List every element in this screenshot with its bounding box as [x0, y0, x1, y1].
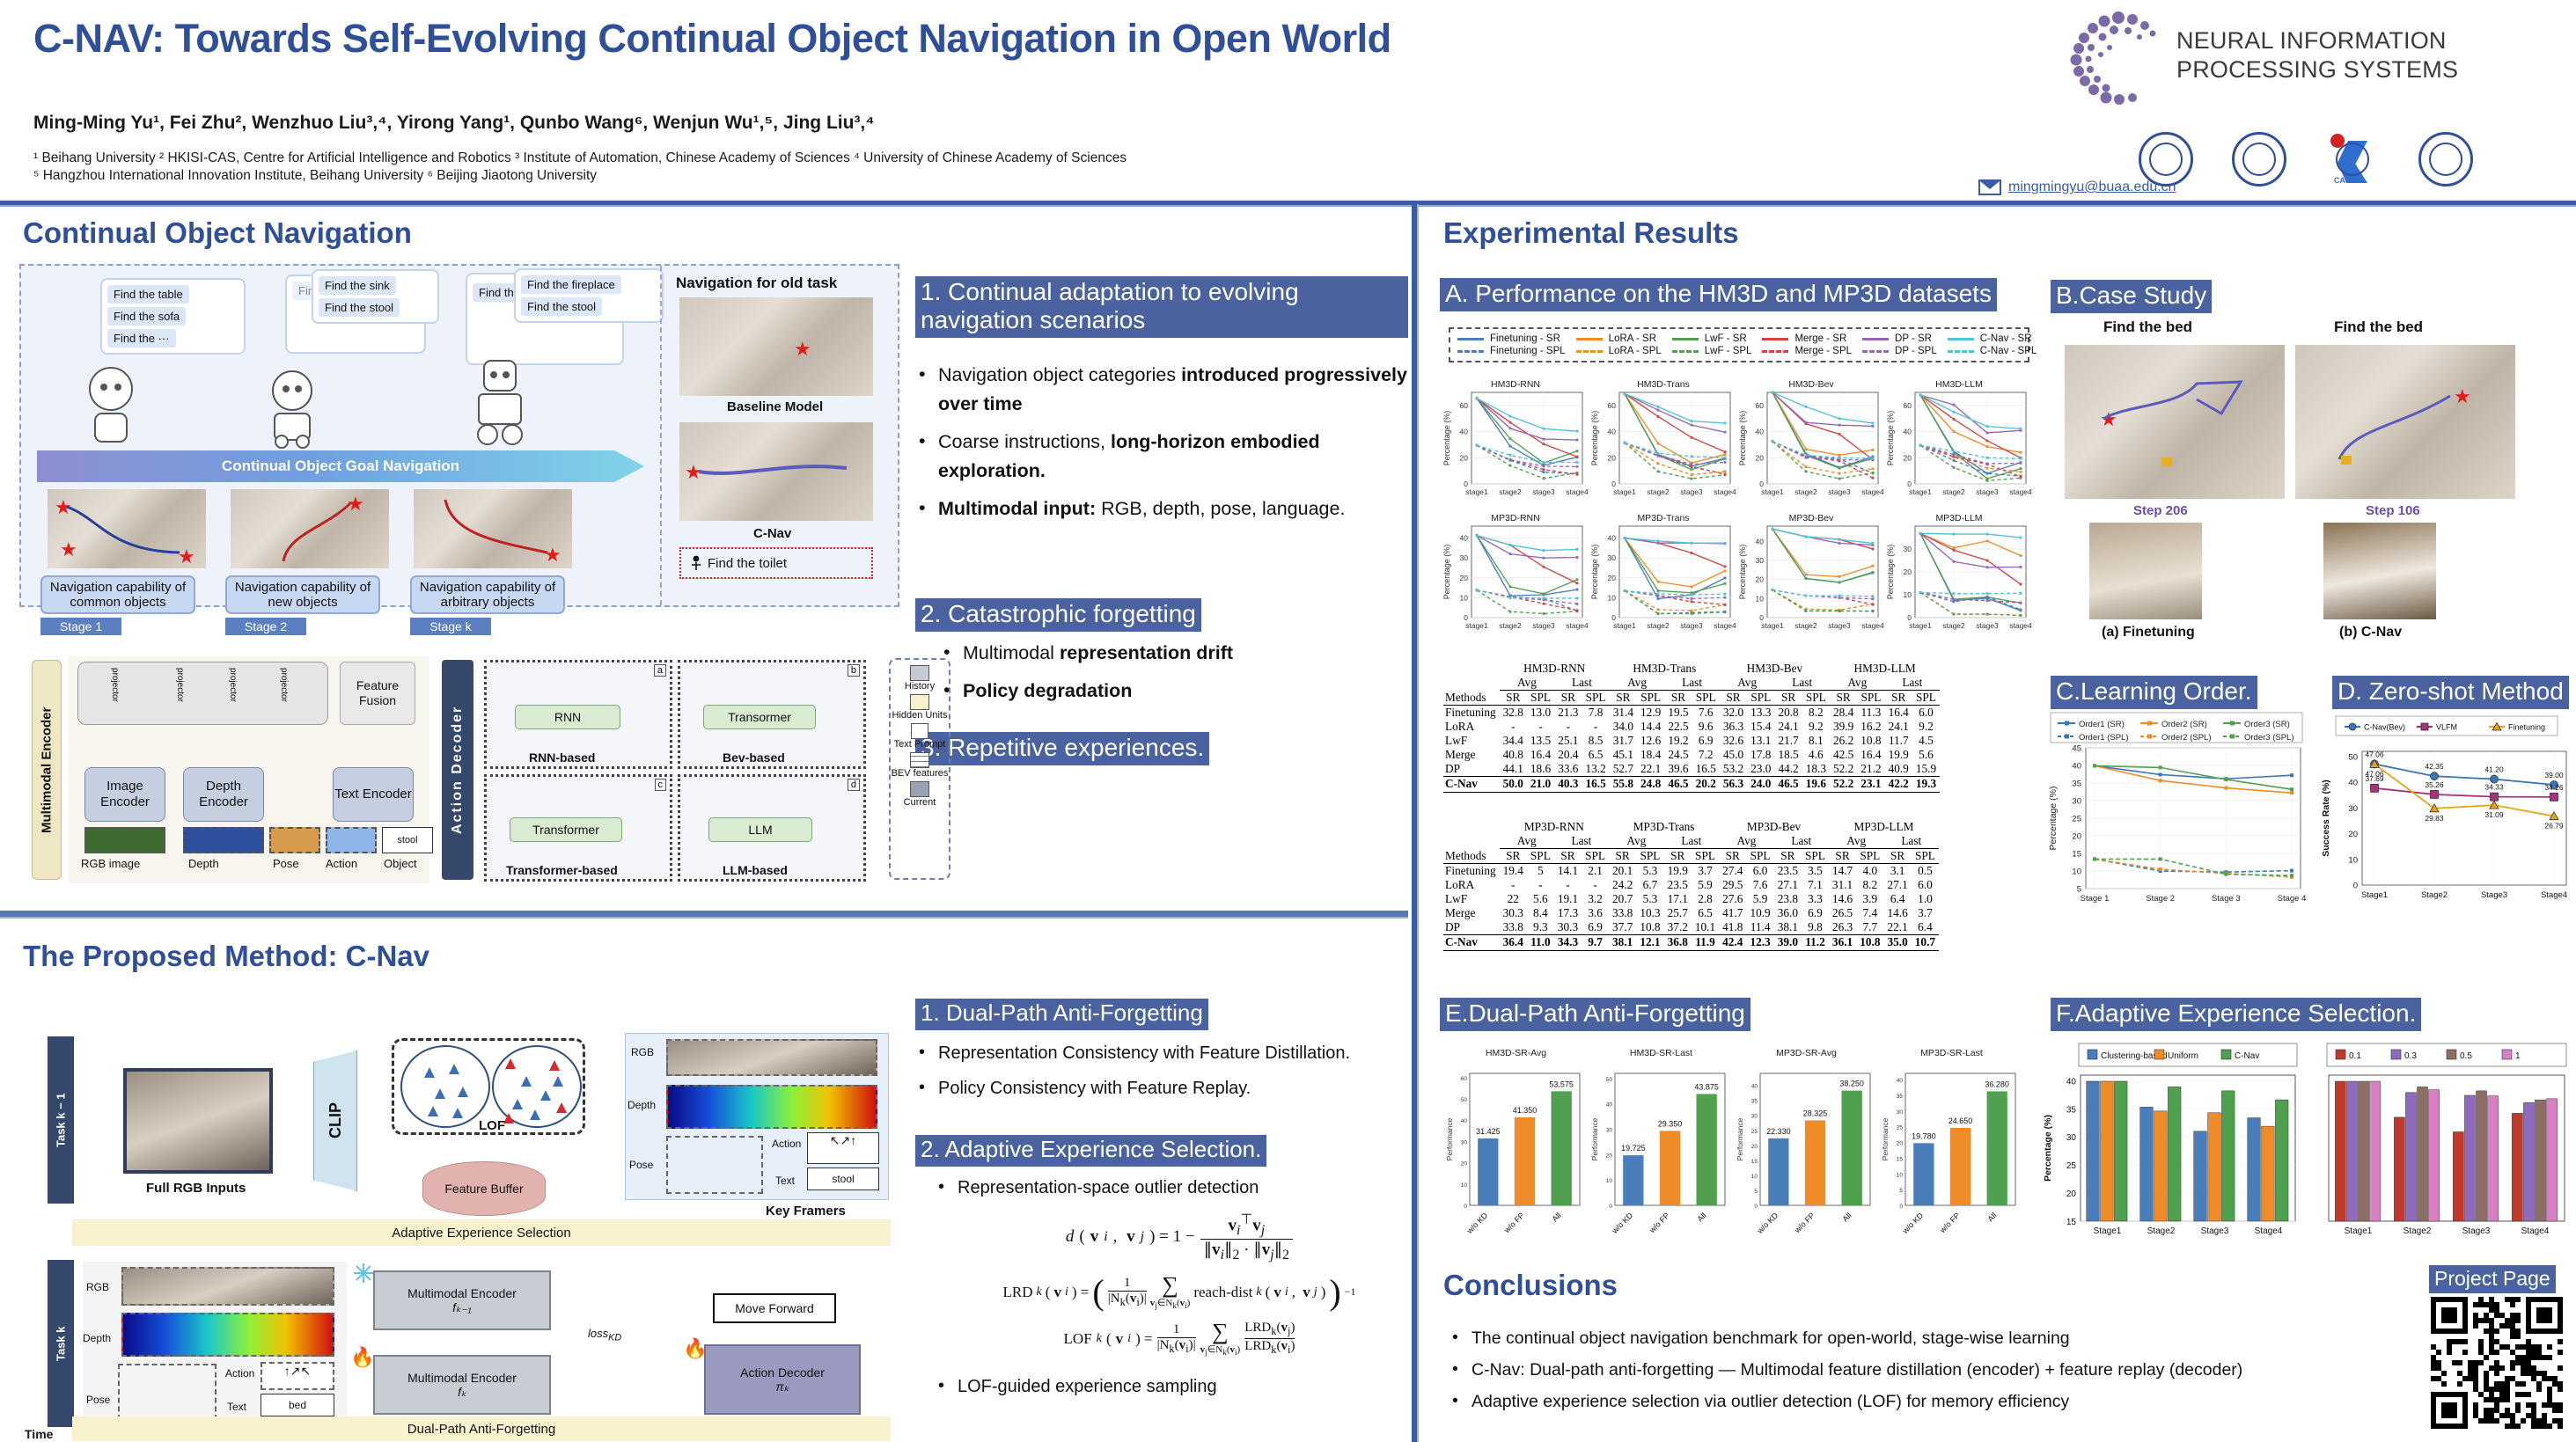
- table-cell-method: Merge: [1443, 906, 1500, 920]
- scene-map-stage2: ★: [231, 489, 389, 568]
- table-cell: 18.5: [1774, 748, 1802, 762]
- table-subgroup-Avg: Avg: [1500, 676, 1555, 691]
- table-metric-SR: SR: [1883, 849, 1911, 864]
- table-cell: 14.6: [1829, 892, 1856, 906]
- table-metric-SR: SR: [1554, 691, 1582, 706]
- table-cell: 3.9: [1856, 892, 1883, 906]
- author-list: Ming-Ming Yu¹, Fei Zhu², Wenzhuo Liu³,⁴,…: [33, 113, 1530, 134]
- table-cell: 56.3: [1720, 777, 1747, 792]
- table-metric-SR: SR: [1829, 849, 1856, 864]
- table-cell: 40.8: [1500, 748, 1527, 762]
- svg-text:All: All: [1550, 1211, 1562, 1223]
- svg-text:stage4: stage4: [2009, 621, 2032, 630]
- svg-text:35.26: 35.26: [2425, 780, 2444, 789]
- old-task-title: Navigation for old task: [676, 274, 837, 292]
- section-a-banner: A. Performance on the HM3D and MP3D data…: [1440, 278, 1997, 311]
- table-cell: 8.2: [1802, 706, 1830, 721]
- legend-item-lwf-spl: LwF - SPL: [1672, 346, 1752, 356]
- svg-text:stage3: stage3: [1532, 487, 1555, 496]
- svg-text:25: 25: [1751, 1129, 1758, 1135]
- svg-text:20: 20: [2072, 832, 2081, 842]
- section-title-proposed-method: The Proposed Method: C-Nav: [23, 940, 429, 973]
- action-decoder-label: Action Decoder: [740, 1365, 825, 1380]
- table-cell: 24.0: [1747, 777, 1774, 792]
- section-e-banner: E.Dual-Path Anti-Forgetting: [1440, 998, 1750, 1031]
- table-cell: 37.2: [1664, 920, 1692, 935]
- svg-text:15: 15: [2066, 1218, 2077, 1227]
- table-cell: 16.4: [1885, 706, 1912, 721]
- svg-text:stage1: stage1: [1909, 487, 1932, 496]
- continual-navigation-arrow: Continual Object Goal Navigation: [37, 450, 644, 482]
- loss-kd-label: lossKD: [588, 1327, 621, 1343]
- svg-text:5: 5: [2077, 885, 2081, 895]
- table-cell: 25.1: [1554, 734, 1582, 748]
- projector-group: projector projector projector projector: [77, 662, 328, 725]
- decoder-caption-transformer: Transformer-based: [506, 863, 618, 877]
- hm3d-table: MethodsHM3D-RNNHM3D-TransHM3D-BevHM3D-LL…: [1443, 662, 1940, 793]
- table-metric-SR: SR: [1774, 691, 1802, 706]
- conclusion-2: Adaptive experience selection via outlie…: [1449, 1390, 2329, 1413]
- svg-text:20: 20: [1608, 453, 1617, 462]
- svg-text:30: 30: [2348, 804, 2358, 814]
- svg-text:40: 40: [1460, 428, 1469, 436]
- svg-text:HM3D-RNN: HM3D-RNN: [1491, 379, 1540, 390]
- svg-text:10: 10: [2072, 867, 2081, 877]
- svg-text:40: 40: [1460, 534, 1469, 543]
- table-metric-SPL: SPL: [1582, 849, 1609, 864]
- svg-text:47.06: 47.06: [2365, 750, 2384, 758]
- svg-text:Order1 (SR): Order1 (SR): [2079, 720, 2125, 729]
- table-cell: 8.5: [1582, 734, 1609, 748]
- move-forward-box: Move Forward: [713, 1293, 836, 1323]
- old-task-caption-baseline: Baseline Model: [727, 399, 823, 414]
- table-cell: 9.3: [1527, 920, 1554, 935]
- ablation-panel-mp3d-sr-avg: MP3D-SR-Avg051015202530354022.330w/o KD2…: [1734, 1043, 1879, 1248]
- svg-text:31.425: 31.425: [1476, 1127, 1501, 1136]
- decoder-variant-a: a RNN RNN-based: [484, 660, 672, 769]
- table-cell: 4.5: [1912, 734, 1940, 748]
- table-cell-method: Finetuning: [1443, 864, 1500, 879]
- svg-text:Finetuning: Finetuning: [2508, 723, 2545, 732]
- svg-text:stage4: stage4: [1566, 487, 1589, 496]
- table-cell: 9.7: [1582, 935, 1609, 950]
- svg-text:10: 10: [1461, 1182, 1468, 1189]
- svg-text:20: 20: [1606, 1153, 1613, 1159]
- legend-item-dp-spl: DP - SPL: [1862, 346, 1937, 356]
- svg-text:40: 40: [1756, 537, 1765, 545]
- action-decoder-box: Action Decoder πₖ: [704, 1344, 861, 1415]
- legend-item-dp-sr: DP - SR: [1862, 333, 1937, 344]
- table-row: LoRA----34.014.422.59.636.315.424.19.239…: [1443, 720, 1940, 734]
- projector-label-4: projector: [279, 668, 289, 702]
- svg-text:stage4: stage4: [1861, 621, 1884, 630]
- method-point-1-bullet-1: Policy Consistency with Feature Replay.: [915, 1075, 1417, 1102]
- table-cell: 26.3: [1829, 920, 1856, 935]
- snowflake-icon: [352, 1262, 375, 1285]
- table-metric-SPL: SPL: [1802, 849, 1829, 864]
- rgb-input-chip: [84, 827, 165, 853]
- encoder-cur-box: Multimodal Encoder fₖ: [373, 1355, 551, 1415]
- legend-item-finetuning-spl: Finetuning - SPL: [1457, 346, 1566, 356]
- table-row: Finetuning19.4514.12.120.15.319.93.727.4…: [1443, 864, 1939, 879]
- case-study-prompt-right: Find the bed: [2334, 318, 2423, 336]
- table-cell-method: Merge: [1443, 748, 1500, 762]
- svg-text:0.5: 0.5: [2460, 1051, 2472, 1061]
- table-metric-SR: SR: [1500, 849, 1527, 864]
- svg-text:31.09: 31.09: [2484, 810, 2504, 819]
- key-framers-label: Key Framers: [766, 1204, 846, 1219]
- input-rgb-strip: [121, 1267, 334, 1306]
- section-d-banner: D. Zero-shot Method: [2332, 676, 2569, 709]
- table-cell: 22: [1500, 892, 1527, 906]
- stagek-prompt-2: Find the fireplace: [521, 275, 621, 294]
- svg-text:40: 40: [1461, 1118, 1468, 1124]
- key-framers-panel: RGB Depth Pose Action ↖↗↑ Text stool: [625, 1033, 889, 1200]
- input-label-action: Action: [326, 857, 357, 870]
- svg-text:HM3D-Trans: HM3D-Trans: [1637, 379, 1690, 390]
- task-prev-tab: Task k − 1: [48, 1036, 74, 1204]
- svg-text:39.00: 39.00: [2544, 771, 2564, 780]
- ablation-panel-hm3d-sr-avg: HM3D-SR-Avg010203040506031.425w/o KD41.3…: [1443, 1043, 1589, 1248]
- svg-text:0: 0: [2353, 882, 2358, 891]
- table-cell: 0.5: [1912, 864, 1939, 879]
- table-cell: 20.8: [1774, 706, 1802, 721]
- section-f-banner: F.Adaptive Experience Selection.: [2051, 998, 2421, 1031]
- table-cell: 23.8: [1774, 892, 1802, 906]
- table-cell: 11.0: [1527, 935, 1554, 950]
- table-cell: 44.1: [1500, 762, 1527, 777]
- table-cell: 29.5: [1719, 878, 1746, 892]
- table-cell: 8.1: [1802, 734, 1830, 748]
- svg-text:20: 20: [1751, 1144, 1758, 1150]
- table-cell: 8.4: [1527, 906, 1554, 920]
- table-cell: 21.7: [1774, 734, 1802, 748]
- method-point-2-bullets: Representation-space outlier detection: [935, 1175, 1427, 1209]
- capability-box-1: Navigation capability of common objects: [40, 575, 195, 614]
- table-cell: 12.9: [1637, 706, 1664, 721]
- table-metric-SPL: SPL: [1857, 691, 1884, 706]
- legend-item-merge-sr: Merge - SR: [1762, 333, 1852, 344]
- table-cell: 20.7: [1609, 892, 1636, 906]
- svg-text:MP3D-SR-Avg: MP3D-SR-Avg: [1776, 1048, 1837, 1058]
- table-cell: 17.3: [1554, 906, 1582, 920]
- poster-root: C-NAV: Towards Self-Evolving Continual O…: [0, 0, 2576, 1442]
- table-metric-SR: SR: [1500, 691, 1527, 706]
- table-cell: 21.3: [1554, 706, 1582, 721]
- table-subgroup-Avg: Avg: [1610, 676, 1665, 691]
- table-cell: 15.4: [1747, 720, 1774, 734]
- decoder-variant-d: d LLM LLM-based: [678, 774, 866, 882]
- table-cell: 40.9: [1885, 762, 1912, 777]
- old-task-caption-cnav: C-Nav: [753, 526, 791, 541]
- decoder-caption-rnn: RNN-based: [529, 750, 595, 765]
- keyframe-label-pose: Pose: [629, 1159, 653, 1171]
- flame-icon-encoder: 🔥: [350, 1346, 374, 1369]
- robot-icon-stage2: [257, 364, 327, 449]
- svg-text:20: 20: [1460, 574, 1469, 582]
- full-rgb-inputs-stack: [123, 1068, 273, 1174]
- encoder-prev-label: Multimodal Encoder: [407, 1286, 517, 1300]
- table-row: Merge40.816.420.46.545.118.424.57.245.01…: [1443, 748, 1940, 762]
- table-cell: -: [1500, 720, 1527, 734]
- table-cell: 41.7: [1719, 906, 1746, 920]
- table-cell: 5.9: [1746, 892, 1773, 906]
- svg-text:Stage2: Stage2: [2404, 1226, 2432, 1236]
- table-subgroup-Avg: Avg: [1720, 676, 1775, 691]
- svg-text:30: 30: [1751, 1114, 1758, 1120]
- table-subgroup-Avg: Avg: [1500, 834, 1554, 849]
- pose-input-chip: [269, 827, 320, 853]
- feature-fusion-box: Feature Fusion: [340, 662, 415, 725]
- projector-label-1: projector: [110, 668, 120, 702]
- neurips-swirl-icon: [2064, 11, 2169, 107]
- table-metric-SPL: SPL: [1747, 691, 1774, 706]
- svg-text:Order1 (SPL): Order1 (SPL): [2079, 733, 2129, 743]
- svg-text:Stage4: Stage4: [2521, 1226, 2550, 1236]
- svg-text:30: 30: [1461, 1139, 1468, 1146]
- table-cell: 12.3: [1746, 935, 1773, 950]
- svg-text:stage3: stage3: [1680, 487, 1703, 496]
- table-cell: 7.6: [1692, 706, 1720, 721]
- decoder-core-transformer: Transformer: [510, 817, 622, 842]
- svg-text:Stage 3: Stage 3: [2212, 894, 2241, 904]
- page-title: C-NAV: Towards Self-Evolving Continual O…: [33, 16, 1838, 62]
- method-point-1-banner: 1. Dual-Path Anti-Forgetting: [915, 999, 1208, 1030]
- input-label-object: Object: [384, 857, 417, 870]
- table-cell: 32.0: [1720, 706, 1747, 721]
- svg-text:Percentage (%): Percentage (%): [1738, 411, 1747, 466]
- legend-item-lora-spl: LoRA - SPL: [1576, 346, 1662, 356]
- svg-text:35: 35: [2066, 1105, 2077, 1115]
- table-cell: 20.2: [1692, 777, 1720, 792]
- svg-text:Order3 (SPL): Order3 (SPL): [2244, 733, 2294, 743]
- table-cell: 13.3: [1747, 706, 1774, 721]
- svg-text:30: 30: [1904, 545, 1912, 553]
- table-cell: 46.5: [1774, 777, 1802, 792]
- point-3-banner: 3. Repetitive experiences.: [915, 732, 1209, 765]
- section-c-banner: C.Learning Order.: [2051, 676, 2257, 709]
- decoder-core-bev: Transormer: [703, 705, 816, 729]
- svg-text:35: 35: [1751, 1099, 1758, 1105]
- table-cell: 19.9: [1885, 748, 1912, 762]
- svg-text:41.20: 41.20: [2484, 765, 2504, 774]
- table-cell: 19.2: [1664, 734, 1692, 748]
- stagek-prompt-bubble: Find the fireplace Find the stool: [514, 268, 664, 323]
- svg-text:stage3: stage3: [1680, 621, 1703, 630]
- svg-text:15: 15: [1751, 1159, 1758, 1165]
- svg-text:40: 40: [1608, 534, 1617, 543]
- stage1-prompt-bubble: Find the table Find the sofa Find the ··…: [100, 278, 246, 355]
- table-cell: 5.6: [1527, 892, 1554, 906]
- architecture-legend: History Hidden Units Text Prompt BEV fea…: [889, 658, 950, 880]
- svg-text:10: 10: [1756, 594, 1765, 603]
- dual-path-band: Dual-Path Anti-Forgetting: [72, 1416, 891, 1441]
- table-cell: 6.0: [1912, 878, 1939, 892]
- table-cell: 27.6: [1719, 892, 1746, 906]
- table-cell: 22.5: [1664, 720, 1692, 734]
- svg-text:C-Nav(Bev): C-Nav(Bev): [2364, 723, 2405, 732]
- svg-text:Stage2: Stage2: [2147, 1226, 2176, 1236]
- projector-label-3: projector: [228, 668, 238, 702]
- table-metric-SPL: SPL: [1582, 691, 1609, 706]
- table-cell: 38.1: [1774, 920, 1802, 935]
- point-2-bullet-0: Multimodal representation drift: [940, 639, 1415, 668]
- svg-text:19.725: 19.725: [1621, 1144, 1646, 1153]
- table-cell: 6.4: [1883, 892, 1911, 906]
- encoder-prev-sub: fₖ₋₁: [452, 1300, 472, 1315]
- point-2-bullets: Multimodal representation drift Policy d…: [940, 639, 1415, 714]
- table-cell: 14.1: [1554, 864, 1582, 879]
- table-cell: 27.4: [1719, 864, 1746, 879]
- table-cell: 9.2: [1912, 720, 1940, 734]
- neurips-line-1: NEURAL INFORMATION: [2176, 26, 2458, 55]
- svg-text:Performance: Performance: [1445, 1117, 1454, 1160]
- table-cell: 14.6: [1883, 906, 1911, 920]
- svg-text:MP3D-Bev: MP3D-Bev: [1789, 513, 1835, 523]
- table-subgroup-Last: Last: [1885, 676, 1941, 691]
- svg-text:10: 10: [2348, 855, 2358, 865]
- selection-strategy-chart: Clustering-basedUniformC-Nav152025303540…: [2040, 1038, 2304, 1248]
- svg-text:40: 40: [1897, 1078, 1904, 1084]
- lof-label: LOF: [479, 1118, 505, 1133]
- table-cell: 55.8: [1610, 777, 1637, 792]
- table-cell: 4.6: [1802, 748, 1830, 762]
- table-cell: 19.4: [1500, 864, 1527, 879]
- table-cell: 10.8: [1636, 920, 1663, 935]
- image-encoder-box: Image Encoder: [84, 767, 165, 822]
- table-group-MP3D-Bev: MP3D-Bev: [1719, 820, 1829, 834]
- table-metric-SPL: SPL: [1636, 849, 1663, 864]
- svg-text:stage2: stage2: [1942, 621, 1965, 630]
- table-cell: 18.6: [1527, 762, 1554, 777]
- table-cell: 14.4: [1637, 720, 1664, 734]
- table-metric-SPL: SPL: [1802, 691, 1830, 706]
- svg-text:60: 60: [1460, 401, 1469, 410]
- svg-text:20: 20: [2066, 1189, 2077, 1199]
- depth-input-chip: [183, 827, 264, 853]
- table-cell: 7.4: [1856, 906, 1883, 920]
- svg-text:w/o KD: w/o KD: [1900, 1211, 1926, 1236]
- svg-text:stage3: stage3: [1976, 621, 1999, 630]
- affiliations: ¹ Beihang University ² HKISI-CAS, Centre…: [33, 150, 1459, 185]
- case-study-prompt-left: Find the bed: [2103, 318, 2192, 336]
- table-cell: 5.3: [1636, 864, 1663, 879]
- svg-text:Success Rate (%): Success Rate (%): [2321, 780, 2331, 857]
- svg-text:stage1: stage1: [1613, 487, 1636, 496]
- table-cell: -: [1582, 720, 1609, 734]
- table-cell: 16.5: [1582, 777, 1609, 792]
- adaptive-experience-selection-band: Adaptive Experience Selection: [72, 1219, 891, 1246]
- encoder-cur-label: Multimodal Encoder: [407, 1371, 517, 1385]
- svg-text:stage4: stage4: [1714, 487, 1736, 496]
- clip-encoder-label: CLIP: [327, 1102, 345, 1138]
- input-label-text-bottom: Text: [227, 1401, 246, 1413]
- legend-history: History: [891, 681, 949, 692]
- svg-text:Percentage (%): Percentage (%): [1590, 411, 1599, 466]
- case-study-figure: Find the bed Find the bed ★ ★ Step 206 S…: [2059, 318, 2570, 670]
- table-group-MP3D-LLM: MP3D-LLM: [1829, 820, 1939, 834]
- table-cell: 33.6: [1554, 762, 1582, 777]
- table-cell: 34.4: [1500, 734, 1527, 748]
- table-cell: 14.7: [1829, 864, 1856, 879]
- table-metric-SR: SR: [1610, 691, 1637, 706]
- table-subgroup-Avg: Avg: [1829, 834, 1884, 849]
- table-metric-SPL: SPL: [1692, 849, 1719, 864]
- table-cell: 11.4: [1746, 920, 1773, 935]
- table-cell: 35.0: [1883, 935, 1911, 950]
- table-cell: 24.1: [1774, 720, 1802, 734]
- table-cell: 15.9: [1912, 762, 1940, 777]
- svg-text:Stage4: Stage4: [2255, 1226, 2283, 1236]
- svg-text:0: 0: [1464, 1204, 1467, 1210]
- point-1-bullet-1: Coarse instructions, long-horizon embodi…: [915, 428, 1417, 486]
- table-cell: 2.8: [1692, 892, 1719, 906]
- table-cell: 19.1: [1554, 892, 1582, 906]
- table-cell: 36.4: [1500, 935, 1527, 950]
- task-cur-tab: Task k: [48, 1260, 74, 1427]
- project-page-qr-code[interactable]: [2431, 1297, 2563, 1429]
- table-metric-SR: SR: [1554, 849, 1582, 864]
- table-cell: 20.4: [1554, 748, 1582, 762]
- robot-icon-stagek: [461, 355, 540, 449]
- affiliation-line-1: ¹ Beihang University ² HKISI-CAS, Centre…: [33, 150, 1459, 167]
- table-cell: 23.0: [1747, 762, 1774, 777]
- stage2-prompt-0: Find the sink: [319, 276, 396, 295]
- decoder-caption-llm: LLM-based: [723, 863, 788, 877]
- method-point-1-bullets: Representation Consistency with Feature …: [915, 1040, 1417, 1110]
- svg-text:30: 30: [1606, 1127, 1613, 1133]
- method-point-2-bullets-tail: LOF-guided experience sampling: [935, 1372, 1427, 1410]
- stage-tag-3: Stage k: [410, 618, 491, 635]
- table-cell: 31.4: [1610, 706, 1637, 721]
- table-row: LwF34.413.525.18.531.712.619.26.932.613.…: [1443, 734, 1940, 748]
- projector-label-2: projector: [175, 668, 185, 702]
- table-cell: 24.8: [1637, 777, 1664, 792]
- svg-text:w/o KD: w/o KD: [1610, 1211, 1635, 1236]
- svg-text:15: 15: [2072, 850, 2081, 860]
- svg-text:Stage4: Stage4: [2541, 890, 2567, 900]
- table-cell: 21.0: [1527, 777, 1554, 792]
- table-cell: 10.8: [1856, 935, 1883, 950]
- table-cell: 6.5: [1692, 906, 1719, 920]
- table-cell: 3.1: [1883, 864, 1911, 879]
- table-cell: 45.1: [1610, 748, 1637, 762]
- svg-text:60: 60: [1904, 401, 1912, 410]
- table-cell: 30.3: [1554, 920, 1582, 935]
- svg-text:Stage3: Stage3: [2481, 890, 2507, 900]
- casia-logo-icon: CASIA: [2325, 132, 2380, 187]
- table-cell: -: [1527, 720, 1554, 734]
- line-panel-hm3d-bev: HM3D-Bev0204060stage1stage2stage3stage4P…: [1737, 377, 1885, 510]
- table-cell: 10.8: [1857, 734, 1884, 748]
- table-cell: 40.3: [1554, 777, 1582, 792]
- ablation-panel-mp3d-sr-last: MP3D-SR-Last051015202530354019.780w/o KD…: [1879, 1043, 2024, 1248]
- svg-text:HM3D-SR-Last: HM3D-SR-Last: [1630, 1048, 1692, 1058]
- point-1-bullets: Navigation object categories introduced …: [915, 361, 1417, 532]
- scene-map-stagek: ★: [414, 489, 572, 568]
- case-study-photo-right: [2323, 523, 2436, 619]
- table-group-HM3D-Trans: HM3D-Trans: [1610, 662, 1720, 676]
- keyframe-label-depth: Depth: [627, 1099, 656, 1111]
- decoder-tag-a: a: [654, 664, 666, 677]
- table-cell: 10.9: [1746, 906, 1773, 920]
- line-panel-mp3d-rnn: MP3D-RNN010203040stage1stage2stage3stage…: [1442, 510, 1589, 644]
- table-cell: 12.1: [1636, 935, 1663, 950]
- svg-text:60: 60: [1608, 401, 1617, 410]
- person-icon: [690, 555, 702, 571]
- table-cell: 6.9: [1692, 734, 1720, 748]
- svg-text:Stage 2: Stage 2: [2146, 894, 2175, 904]
